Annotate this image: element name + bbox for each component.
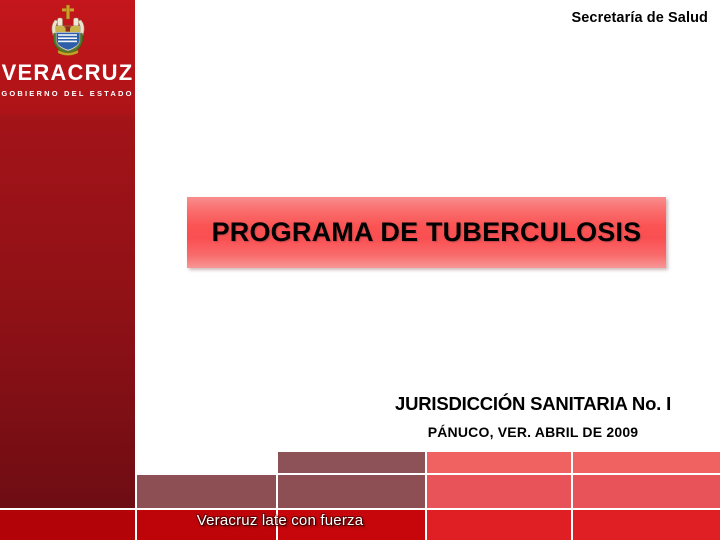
tile-row1-c3	[278, 452, 425, 473]
tile-row3-c3	[278, 510, 425, 540]
slide-canvas: VERACRUZ GOBIERNO DEL ESTADO Secretaría …	[0, 0, 720, 540]
left-sidebar-panel: VERACRUZ GOBIERNO DEL ESTADO	[0, 0, 135, 508]
tile-row2-c3	[278, 475, 425, 508]
tile-row2-c5	[573, 475, 720, 508]
tile-row1-c4	[427, 452, 571, 473]
agency-name-header: Secretaría de Salud	[572, 10, 709, 26]
title-banner: PROGRAMA DE TUBERCULOSIS	[187, 197, 666, 268]
veracruz-wordmark-subtitle: GOBIERNO DEL ESTADO	[0, 90, 135, 98]
jurisdiction-name: JURISDICCIÓN SANITARIA No. I	[368, 393, 698, 415]
tile-row2-c4	[427, 475, 571, 508]
jurisdiction-block: JURISDICCIÓN SANITARIA No. I PÁNUCO, VER…	[368, 393, 698, 440]
slide-title: PROGRAMA DE TUBERCULOSIS	[212, 217, 642, 248]
veracruz-wordmark: VERACRUZ	[0, 62, 135, 84]
jurisdiction-place-date: PÁNUCO, VER. ABRIL DE 2009	[368, 424, 698, 440]
tile-row1-c5	[573, 452, 720, 473]
tile-row3-c1	[0, 510, 135, 540]
tile-row3-c5	[573, 510, 720, 540]
veracruz-coat-of-arms-icon	[45, 4, 91, 56]
veracruz-logo-block: VERACRUZ GOBIERNO DEL ESTADO	[0, 0, 135, 115]
tile-row3-c4	[427, 510, 571, 540]
tile-row3-c2	[137, 510, 276, 540]
tile-row2-c2	[137, 475, 276, 508]
